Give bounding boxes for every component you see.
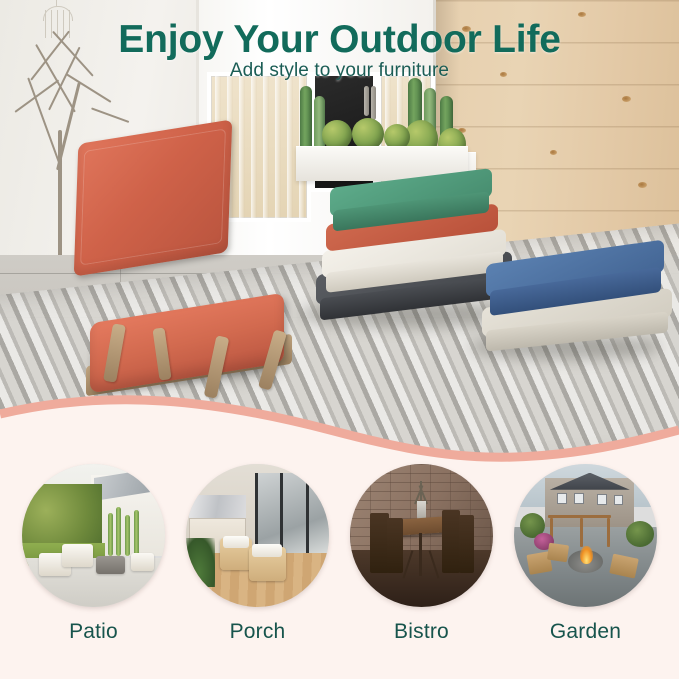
cushion-green xyxy=(330,178,492,224)
patio-thumbnail[interactable] xyxy=(22,464,165,607)
porch-thumbnail[interactable] xyxy=(186,464,329,607)
bistro-thumbnail[interactable] xyxy=(350,464,493,607)
category-item-patio[interactable]: Patio xyxy=(22,464,165,679)
category-strip: Patio Por xyxy=(0,462,679,679)
door-handle-lower xyxy=(371,86,376,120)
category-label-porch: Porch xyxy=(230,620,286,644)
category-item-bistro[interactable]: Bistro xyxy=(350,464,493,679)
garden-thumbnail[interactable] xyxy=(514,464,657,607)
product-banner: Enjoy Your Outdoor Life Add style to you… xyxy=(0,0,679,679)
category-label-garden: Garden xyxy=(550,620,621,644)
category-label-bistro: Bistro xyxy=(394,620,449,644)
chair-back-cushion xyxy=(74,119,233,276)
cushion-blue xyxy=(486,252,664,306)
page-title: Enjoy Your Outdoor Life xyxy=(0,18,679,62)
wooden-slipper-chair xyxy=(60,128,310,378)
door-handle-upper xyxy=(364,86,369,116)
category-label-patio: Patio xyxy=(69,620,118,644)
category-item-garden[interactable]: Garden xyxy=(514,464,657,679)
page-subtitle: Add style to your furniture xyxy=(0,60,679,82)
category-item-porch[interactable]: Porch xyxy=(186,464,329,679)
